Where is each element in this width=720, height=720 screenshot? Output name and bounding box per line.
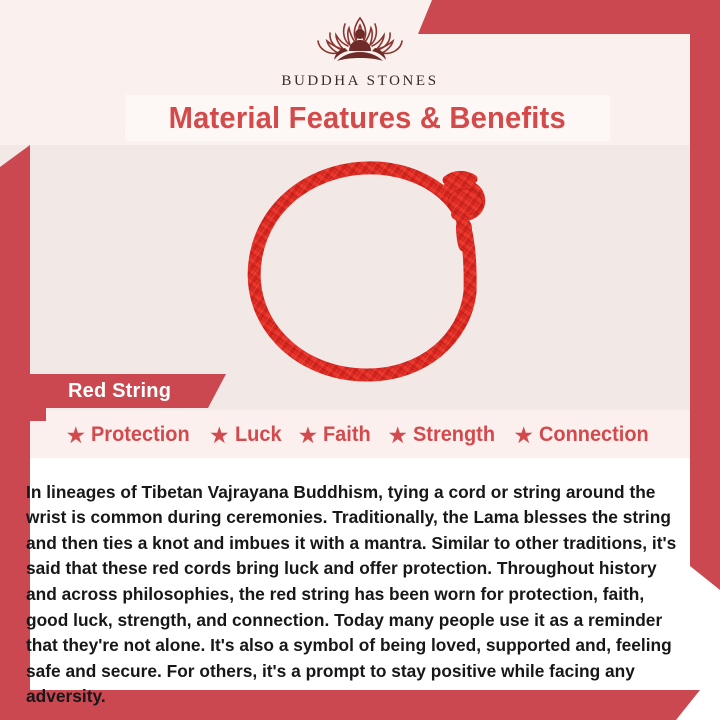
star-icon: ★ — [513, 424, 534, 447]
description-text: In lineages of Tibetan Vajrayana Buddhis… — [26, 480, 684, 710]
feature-item-faith: ★ Faith — [298, 423, 374, 447]
feature-item-protection: ★ Protection — [66, 423, 195, 447]
star-icon: ★ — [66, 424, 87, 447]
star-icon: ★ — [387, 424, 408, 447]
title-band: Material Features & Benefits — [125, 95, 610, 141]
feature-label: Connection — [539, 423, 649, 447]
product-name-ribbon: Red String — [30, 374, 226, 408]
feature-label: Protection — [91, 423, 190, 447]
brand-name: BUDDHA STONES — [0, 73, 720, 90]
page-title: Material Features & Benefits — [169, 100, 566, 136]
brand-logo: BUDDHA STONES — [0, 14, 720, 90]
star-icon: ★ — [209, 424, 230, 447]
infographic-page: BUDDHA STONES Material Features & Benefi… — [0, 0, 720, 720]
product-image — [225, 152, 505, 388]
star-icon: ★ — [298, 424, 319, 447]
feature-label: Luck — [235, 423, 282, 447]
feature-label: Strength — [413, 423, 495, 447]
feature-keyword-list: ★ Protection ★ Luck ★ Faith ★ Strength ★… — [0, 418, 720, 452]
feature-item-strength: ★ Strength — [387, 423, 499, 447]
product-name-label: Red String — [30, 380, 171, 403]
feature-item-luck: ★ Luck — [209, 423, 284, 447]
lotus-meditation-icon — [0, 14, 720, 71]
feature-label: Faith — [323, 423, 371, 447]
feature-item-connection: ★ Connection — [513, 423, 654, 447]
